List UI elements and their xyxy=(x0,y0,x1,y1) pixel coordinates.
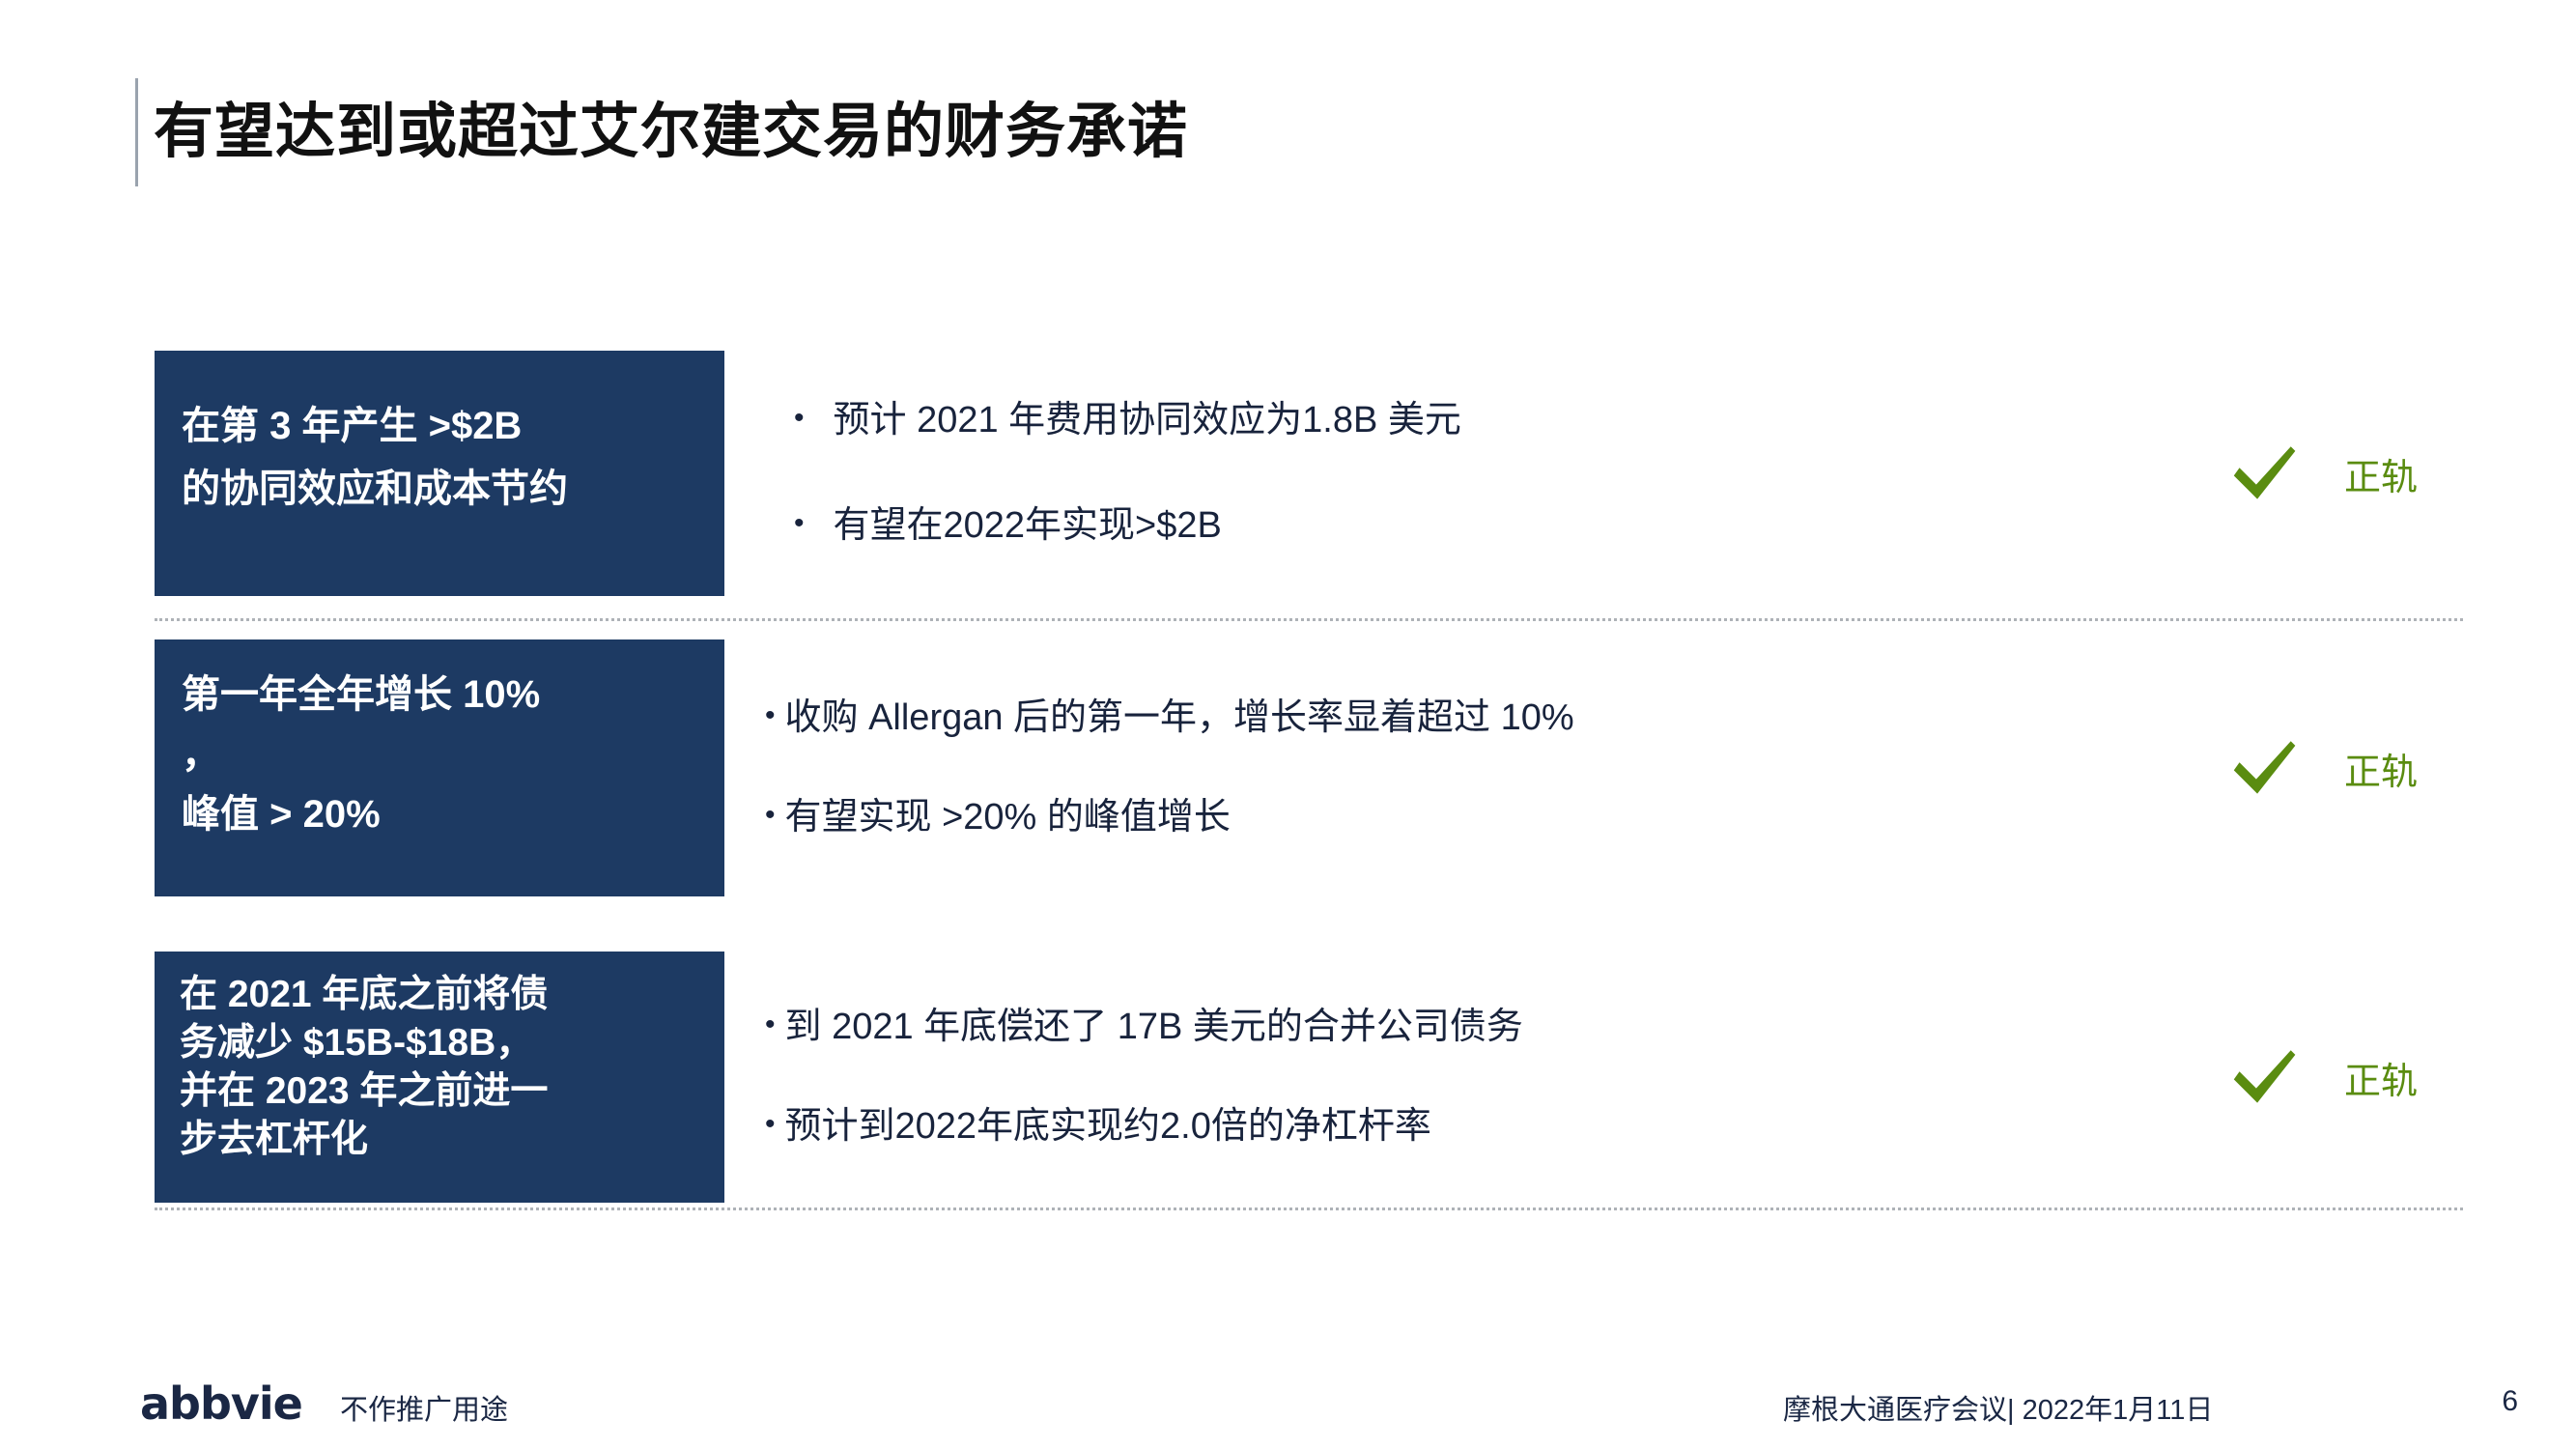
commitment-label-line: 第一年全年增长 10% xyxy=(182,665,697,724)
bullet-item: • 预计到2022年底实现约2.0倍的净杠杆率 xyxy=(765,1102,2132,1151)
commitment-row: 在 2021 年底之前将债 务减少 $15B-$18B， 并在 2023 年之前… xyxy=(0,918,2576,1236)
commitment-label-line: 在第 3 年产生 >$2B xyxy=(182,395,697,458)
bullet-text: 有望在2022年实现>$2B xyxy=(834,501,1222,551)
bullet-text: 到 2021 年底偿还了 17B 美元的合并公司债务 xyxy=(785,1003,1523,1052)
commitment-row: 第一年全年增长 10% ， 峰值 > 20% • 收购 Allergan 后的第… xyxy=(0,618,2576,918)
commitment-label-box: 在第 3 年产生 >$2B 的协同效应和成本节约 xyxy=(155,351,724,596)
bullet-marker-icon: • xyxy=(794,396,805,441)
commitment-label-line: 务减少 $15B-$18B， xyxy=(180,1019,699,1067)
bullet-item: • 有望实现 >20% 的峰值增长 xyxy=(765,793,2132,842)
bullet-text: 有望实现 >20% 的峰值增长 xyxy=(785,793,1231,842)
status-badge: 正轨 xyxy=(2170,1041,2576,1113)
check-icon xyxy=(2228,438,2300,509)
bullet-marker-icon: • xyxy=(765,694,776,739)
bullet-marker-icon: • xyxy=(794,501,805,547)
bullet-marker-icon: • xyxy=(765,1003,776,1048)
commitment-bullets: • 预计 2021 年费用协同效应为1.8B 美元 • 有望在2022年实现>$… xyxy=(794,396,2170,552)
bullet-item: • 预计 2021 年费用协同效应为1.8B 美元 xyxy=(794,396,2132,445)
bullet-marker-icon: • xyxy=(765,793,776,838)
slide-title-area: 有望达到或超过艾尔建交易的财务承诺 xyxy=(135,75,1188,189)
bullet-text: 预计到2022年底实现约2.0倍的净杠杆率 xyxy=(785,1102,1431,1151)
commitment-label-line: 的协同效应和成本节约 xyxy=(182,458,697,521)
status-label: 正轨 xyxy=(2344,447,2418,500)
bullet-item: • 有望在2022年实现>$2B xyxy=(794,501,2132,551)
bullet-text: 收购 Allergan 后的第一年，增长率显着超过 10% xyxy=(785,694,1574,743)
commitment-row: 在第 3 年产生 >$2B 的协同效应和成本节约 • 预计 2021 年费用协同… xyxy=(0,328,2576,618)
bullet-item: • 收购 Allergan 后的第一年，增长率显着超过 10% xyxy=(765,694,2132,743)
commitment-label-line: 峰值 > 20% xyxy=(182,784,697,844)
check-icon xyxy=(2228,732,2300,804)
commitment-bullets: • 收购 Allergan 后的第一年，增长率显着超过 10% • 有望实现 >… xyxy=(765,694,2170,843)
status-label: 正轨 xyxy=(2344,742,2418,795)
status-label: 正轨 xyxy=(2344,1051,2418,1104)
commitment-label-box: 在 2021 年底之前将债 务减少 $15B-$18B， 并在 2023 年之前… xyxy=(155,952,724,1203)
bullet-item: • 到 2021 年底偿还了 17B 美元的合并公司债务 xyxy=(765,1003,2132,1052)
page-title: 有望达到或超过艾尔建交易的财务承诺 xyxy=(154,100,1188,163)
commitment-label-line: ， xyxy=(182,724,697,784)
commitment-label-box: 第一年全年增长 10% ， 峰值 > 20% xyxy=(155,639,724,896)
status-badge: 正轨 xyxy=(2170,732,2576,804)
footer-event-date: 摩根大通医疗会议| 2022年1月11日 xyxy=(1783,1387,2213,1428)
commitment-rows: 在第 3 年产生 >$2B 的协同效应和成本节约 • 预计 2021 年费用协同… xyxy=(0,328,2576,1236)
page-number: 6 xyxy=(2502,1385,2518,1418)
commitment-bullets: • 到 2021 年底偿还了 17B 美元的合并公司债务 • 预计到2022年底… xyxy=(765,1003,2170,1152)
bullet-text: 预计 2021 年费用协同效应为1.8B 美元 xyxy=(834,396,1461,445)
commitment-label-line: 并在 2023 年之前进一 xyxy=(180,1067,699,1116)
slide-canvas: 有望达到或超过艾尔建交易的财务承诺 在第 3 年产生 >$2B 的协同效应和成本… xyxy=(0,0,2576,1449)
commitment-label-line: 在 2021 年底之前将债 xyxy=(180,971,699,1019)
slide-footer: abbvie 不作推广用途 摩根大通医疗会议| 2022年1月11日 6 xyxy=(0,1356,2576,1449)
check-icon xyxy=(2228,1041,2300,1113)
bullet-marker-icon: • xyxy=(765,1102,776,1148)
title-accent-rule xyxy=(135,78,138,186)
abbvie-logo: abbvie xyxy=(140,1378,302,1430)
commitment-label-line: 步去杠杆化 xyxy=(180,1116,699,1164)
status-badge: 正轨 xyxy=(2170,438,2576,509)
footer-note: 不作推广用途 xyxy=(340,1387,508,1428)
